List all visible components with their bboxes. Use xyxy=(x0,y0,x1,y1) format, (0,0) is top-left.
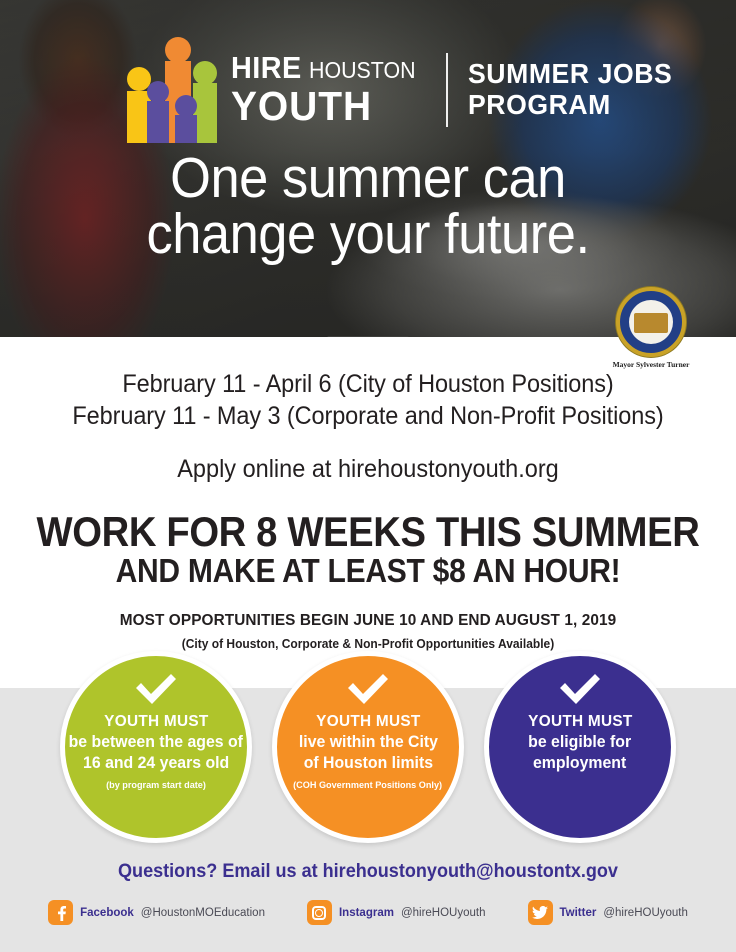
instagram-glyph xyxy=(312,906,326,920)
application-dates: February 11 - April 6 (City of Houston P… xyxy=(0,368,736,433)
headline-line-2: change your future. xyxy=(29,206,706,262)
logo-hire-text: HIRE xyxy=(231,52,302,83)
apply-online-line[interactable]: Apply online at hirehoustonyouth.org xyxy=(22,455,714,484)
requirement-circles: YOUTH MUST be between the ages of 16 and… xyxy=(0,651,736,843)
requirement-circle-eligibility: YOUTH MUST be eligible for employment xyxy=(484,651,676,843)
requirement-line-1: be between the ages of xyxy=(69,732,243,752)
date-line-corporate: February 11 - May 3 (Corporate and Non-P… xyxy=(22,400,714,432)
social-link-facebook[interactable]: Facebook @HoustonMOEducation xyxy=(48,900,265,925)
tagline-line-2: PROGRAM xyxy=(468,90,672,120)
twitter-handle: @hireHOUyouth xyxy=(603,907,688,919)
logo-youth-text: YOUTH xyxy=(231,86,414,127)
program-tagline: SUMMER JOBS PROGRAM xyxy=(468,59,672,119)
logo-divider xyxy=(446,53,448,127)
checkmark-icon xyxy=(345,672,391,706)
requirement-circle-age: YOUTH MUST be between the ages of 16 and… xyxy=(60,651,252,843)
tagline-line-1: SUMMER JOBS xyxy=(468,59,672,89)
requirement-heading: YOUTH MUST xyxy=(528,712,632,731)
work-subheadline: AND MAKE AT LEAST $8 AN HOUR! xyxy=(33,553,703,590)
figure-purple-left-icon xyxy=(147,81,169,143)
requirement-heading: YOUTH MUST xyxy=(104,712,208,731)
instagram-handle: @hireHOUyouth xyxy=(401,907,486,919)
twitter-icon[interactable] xyxy=(528,900,553,925)
requirement-circle-residency: YOUTH MUST live within the City of Houst… xyxy=(272,651,464,843)
logo-wordmark: HIRE HOUSTON YOUTH xyxy=(231,52,424,127)
city-seal-block: ★ Mayor Sylvester Turner xyxy=(612,287,690,369)
hire-houston-youth-figures-icon xyxy=(127,36,219,143)
facebook-icon[interactable] xyxy=(48,900,73,925)
seal-locomotive-icon xyxy=(634,313,668,333)
social-link-twitter[interactable]: Twitter @hireHOUyouth xyxy=(528,900,688,925)
requirement-line-2: 16 and 24 years old xyxy=(83,753,229,773)
requirement-heading: YOUTH MUST xyxy=(316,712,420,731)
requirement-line-2: employment xyxy=(533,753,626,773)
hero-notch-triangle xyxy=(327,336,409,337)
instagram-icon[interactable] xyxy=(307,900,332,925)
social-links-row: Facebook @HoustonMOEducation Instagram @… xyxy=(0,900,736,925)
requirement-note: (by program start date) xyxy=(106,780,206,791)
facebook-glyph xyxy=(54,905,68,921)
availability-note: (City of Houston, Corporate & Non-Profit… xyxy=(15,637,722,651)
logo-houston-text: HOUSTON xyxy=(309,59,416,82)
contact-email-line[interactable]: Questions? Email us at hirehoustonyouth@… xyxy=(18,861,717,883)
poster: HIRE HOUSTON YOUTH SUMMER JOBS PROGRAM O… xyxy=(0,0,736,952)
requirement-line-1: live within the City xyxy=(298,732,437,752)
requirement-line-1: be eligible for xyxy=(529,732,632,752)
twitter-bird-glyph xyxy=(532,906,548,920)
city-of-houston-seal-icon: ★ xyxy=(616,287,686,357)
twitter-label: Twitter xyxy=(560,907,597,919)
facebook-label: Facebook xyxy=(80,907,134,919)
requirement-line-2: of Houston limits xyxy=(303,753,432,773)
most-opportunities-line: MOST OPPORTUNITIES BEGIN JUNE 10 AND END… xyxy=(15,612,722,630)
main-content: February 11 - April 6 (City of Houston P… xyxy=(0,368,736,651)
logo-lockup: HIRE HOUSTON YOUTH SUMMER JOBS PROGRAM xyxy=(127,36,683,143)
seal-caption: Mayor Sylvester Turner xyxy=(612,360,690,369)
hero-headline: One summer can change your future. xyxy=(0,150,736,263)
facebook-handle: @HoustonMOEducation xyxy=(141,907,265,919)
headline-line-1: One summer can xyxy=(29,150,706,206)
date-line-city: February 11 - April 6 (City of Houston P… xyxy=(22,368,714,400)
figure-purple-right-icon xyxy=(175,95,197,143)
social-link-instagram[interactable]: Instagram @hireHOUyouth xyxy=(307,900,486,925)
work-headline: WORK FOR 8 WEEKS THIS SUMMER xyxy=(33,511,703,554)
requirement-note: (COH Government Positions Only) xyxy=(294,780,443,791)
instagram-label: Instagram xyxy=(339,907,394,919)
checkmark-icon xyxy=(133,672,179,706)
seal-inner: ★ xyxy=(629,300,673,344)
checkmark-icon xyxy=(557,672,603,706)
